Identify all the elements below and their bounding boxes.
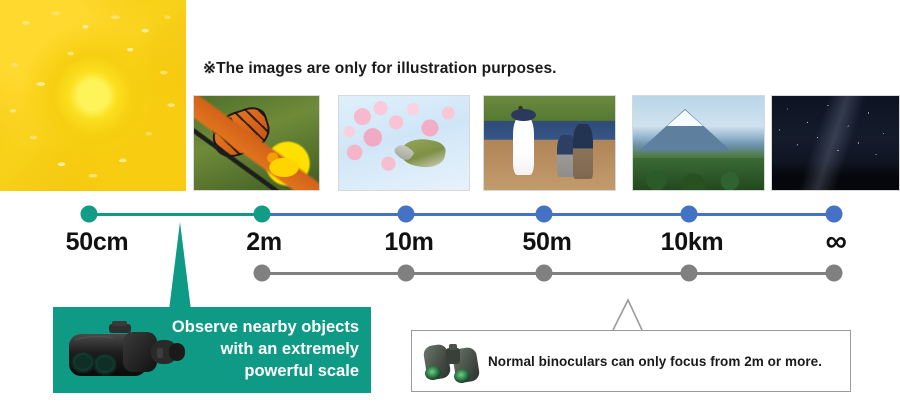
note-callout-text: Normal binoculars can only focus from 2m… <box>488 354 822 369</box>
butterfly-wing-shape <box>206 103 274 162</box>
roof-prism-binoculars-icon <box>422 339 488 385</box>
timeline-gray-node-2m[interactable] <box>254 265 271 282</box>
photo-baseball-game <box>483 95 616 191</box>
photo-mount-fuji <box>632 95 765 191</box>
timeline-node-10km[interactable] <box>681 206 698 223</box>
night-sky-image <box>772 96 899 190</box>
timeline-gray-node-10m[interactable] <box>398 265 415 282</box>
timeline-node-50m[interactable] <box>536 206 553 223</box>
mount-fuji-image <box>633 96 764 190</box>
foreground-trees-shape <box>633 158 764 190</box>
teal-callout-pointer <box>169 222 191 310</box>
timeline-label-10m: 10m <box>384 228 433 257</box>
teal-callout-text: Observe nearby objects with an extremely… <box>172 317 371 382</box>
note-callout-box: Normal binoculars can only focus from 2m… <box>411 330 851 392</box>
macro-flower-image <box>0 0 186 191</box>
treeline-silhouette-shape <box>772 162 899 190</box>
bird-shape <box>399 136 447 171</box>
timeline-track-teal <box>89 213 263 216</box>
timeline-gray-node-infinity[interactable] <box>826 265 843 282</box>
baseball-image <box>484 96 615 190</box>
timeline-label-10km: 10km <box>661 228 724 257</box>
photo-macro-yellow-flower <box>0 0 186 191</box>
umpire-shape <box>573 124 593 179</box>
timeline-node-50cm[interactable] <box>81 206 98 223</box>
photo-bird-in-cherry-blossoms <box>338 95 470 191</box>
batter-shape <box>513 117 534 175</box>
note-callout-pointer <box>611 296 647 332</box>
compact-binoculars-icon <box>65 318 191 384</box>
timeline-node-2m[interactable] <box>254 206 271 223</box>
timeline-gray-node-10km[interactable] <box>681 265 698 282</box>
butterfly-image <box>194 96 319 190</box>
timeline-node-10m[interactable] <box>398 206 415 223</box>
timeline-label-infinity: ∞ <box>825 227 846 257</box>
timeline-gray-node-50m[interactable] <box>536 265 553 282</box>
timeline-label-50m: 50m <box>522 228 571 257</box>
timeline-label-50cm: 50cm <box>66 228 129 257</box>
photo-starry-night-sky <box>771 95 900 191</box>
timeline-node-infinity[interactable] <box>826 206 843 223</box>
teal-callout-box: Observe nearby objects with an extremely… <box>53 307 371 393</box>
focus-range-infographic: ※The images are only for illustration pu… <box>0 0 900 404</box>
cherry-blossom-image <box>339 96 469 190</box>
snow-cap-shape <box>667 110 703 126</box>
illustration-disclaimer-caption: ※The images are only for illustration pu… <box>203 59 557 78</box>
photo-butterfly-on-flower <box>193 95 320 191</box>
timeline-label-2m: 2m <box>246 228 282 257</box>
